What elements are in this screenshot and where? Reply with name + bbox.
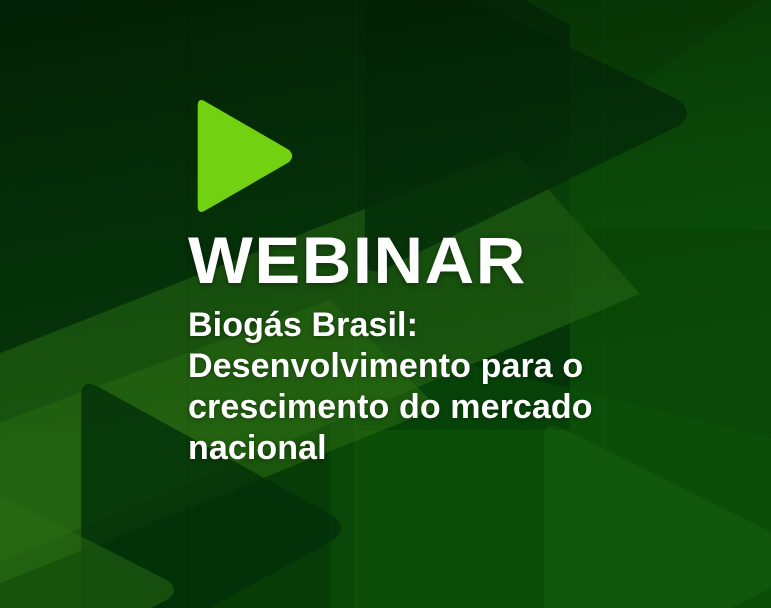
headline-line-3: crescimento do mercado: [188, 387, 658, 428]
headline-line-4: nacional: [188, 428, 658, 469]
headline: Biogás Brasil: Desenvolvimento para o cr…: [188, 305, 658, 470]
headline-line-1: Biogás Brasil:: [188, 305, 658, 346]
headline-line-2: Desenvolvimento para o: [188, 346, 658, 387]
background-play-triangle-icon-lower-left: [0, 470, 180, 608]
webinar-banner: WEBINAR Biogás Brasil: Desenvolvimento p…: [0, 0, 771, 608]
play-triangle-icon: [188, 96, 296, 216]
banner-content: WEBINAR Biogás Brasil: Desenvolvimento p…: [188, 96, 748, 469]
kicker-webinar: WEBINAR: [188, 230, 770, 291]
